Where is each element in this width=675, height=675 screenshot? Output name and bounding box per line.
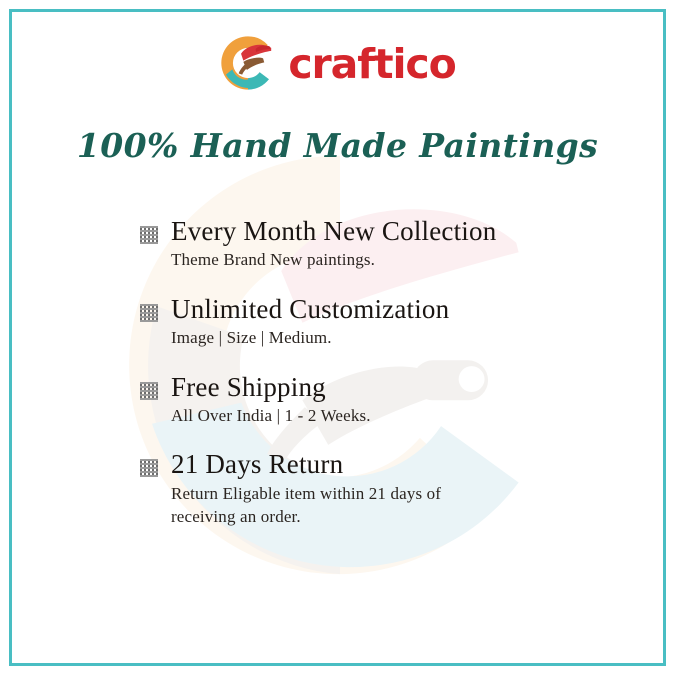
woven-square-bullet-icon [138, 224, 160, 246]
woven-square-bullet-icon [138, 302, 160, 324]
promo-card: craftico 100% Hand Made Paintings [0, 0, 675, 675]
feature-title: 21 Days Return [171, 449, 608, 480]
brand-wordmark: craftico [288, 44, 455, 85]
feature-title: Free Shipping [171, 372, 608, 403]
list-item: 21 Days Return Return Eligable item with… [138, 449, 608, 528]
feature-subtitle: Image | Size | Medium. [171, 326, 501, 349]
woven-square-bullet-icon [138, 457, 160, 479]
feature-title: Unlimited Customization [171, 294, 608, 325]
brand-lockup: craftico [0, 34, 675, 92]
feature-title: Every Month New Collection [171, 216, 608, 247]
page-title: 100% Hand Made Paintings [0, 127, 675, 165]
list-item: Every Month New Collection Theme Brand N… [138, 216, 608, 272]
list-item: Free Shipping All Over India | 1 - 2 Wee… [138, 372, 608, 428]
feature-subtitle: Theme Brand New paintings. [171, 248, 501, 271]
woven-square-bullet-icon [138, 380, 160, 402]
feature-list: Every Month New Collection Theme Brand N… [138, 216, 608, 529]
list-item: Unlimited Customization Image | Size | M… [138, 294, 608, 350]
feature-subtitle: All Over India | 1 - 2 Weeks. [171, 404, 501, 427]
craftico-c-paintbrush-logo-icon [219, 34, 277, 92]
feature-subtitle: Return Eligable item within 21 days of r… [171, 482, 501, 529]
